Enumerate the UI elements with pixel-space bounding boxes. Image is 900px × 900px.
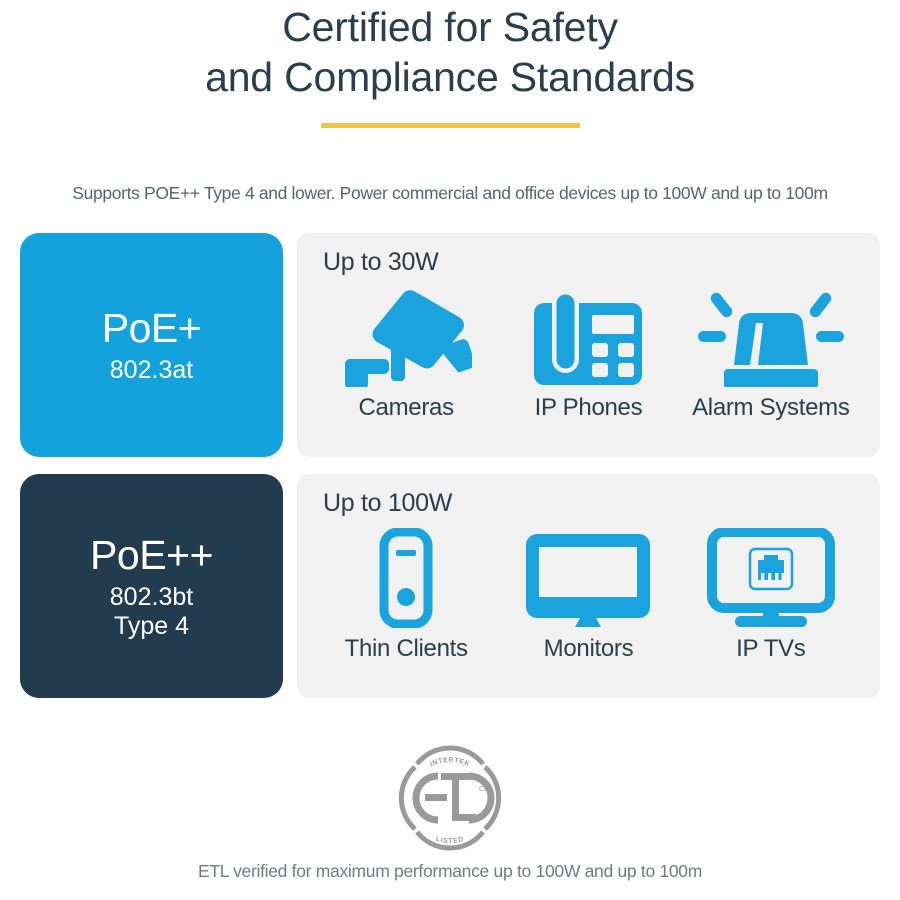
device-item-thin-clients: Thin Clients xyxy=(316,524,496,664)
device-item-monitors: Monitors xyxy=(498,524,678,664)
etl-badge-superscript: CM xyxy=(479,786,490,793)
page-header: Certified for Safety and Compliance Stan… xyxy=(0,0,900,128)
svg-text:INTERTEK: INTERTEK xyxy=(429,757,471,768)
page-title-line-1: Certified for Safety xyxy=(0,2,900,52)
device-label-alarm-systems: Alarm Systems xyxy=(692,393,849,423)
device-strip-100w: Thin Clients Monitors xyxy=(315,524,862,664)
etl-badge-top-text: INTERTEK xyxy=(429,757,471,768)
page-footer: INTERTEK LISTED CM ETL verified for maxi… xyxy=(0,742,900,882)
device-panel-30w: Up to 30W Cameras xyxy=(297,233,880,457)
tier-row-poe-plus-plus: PoE++ 802.3bt Type 4 Up to 100W xyxy=(20,474,880,698)
device-label-cameras: Cameras xyxy=(359,393,454,423)
device-item-cameras: Cameras xyxy=(316,283,496,423)
etl-badge-wrap: INTERTEK LISTED CM xyxy=(0,742,900,854)
panel-heading-100w: Up to 100W xyxy=(323,488,862,518)
security-camera-icon xyxy=(340,283,472,387)
etl-badge-bottom-text: LISTED xyxy=(435,836,465,845)
device-label-ip-phones: IP Phones xyxy=(535,393,643,423)
tier-card-poe-plus-plus: PoE++ 802.3bt Type 4 xyxy=(20,474,283,698)
ip-phone-icon xyxy=(532,283,644,387)
footer-note: ETL verified for maximum performance up … xyxy=(0,860,900,882)
poe-tier-grid: PoE+ 802.3at Up to 30W xyxy=(20,233,880,698)
tier-standard-line-2: Type 4 xyxy=(110,612,193,641)
title-accent-underline xyxy=(321,123,580,128)
tier-row-poe-plus: PoE+ 802.3at Up to 30W xyxy=(20,233,880,457)
device-strip-30w: Cameras xyxy=(315,283,862,423)
tier-standard: 802.3at xyxy=(110,356,193,385)
device-item-alarm-systems: Alarm Systems xyxy=(681,283,861,423)
device-item-ip-tvs: IP TVs xyxy=(681,524,861,664)
device-label-ip-tvs: IP TVs xyxy=(736,634,805,664)
ip-tv-icon xyxy=(707,524,835,628)
panel-heading-30w: Up to 30W xyxy=(323,247,862,277)
subtitle-text: Supports POE++ Type 4 and lower. Power c… xyxy=(0,182,900,204)
device-panel-100w: Up to 100W Thin Clients xyxy=(297,474,880,698)
tier-standard: 802.3bt Type 4 xyxy=(110,583,193,641)
thin-client-icon xyxy=(379,524,433,628)
tier-name: PoE++ xyxy=(90,532,213,578)
page-title-line-2: and Compliance Standards xyxy=(0,52,900,102)
alarm-siren-icon xyxy=(698,283,844,387)
tier-card-poe-plus: PoE+ 802.3at xyxy=(20,233,283,457)
etl-intertek-listed-badge-icon: INTERTEK LISTED CM xyxy=(391,742,509,854)
tier-standard-line-1: 802.3bt xyxy=(110,583,193,612)
tier-name: PoE+ xyxy=(102,305,201,351)
page-title: Certified for Safety and Compliance Stan… xyxy=(0,2,900,102)
device-label-monitors: Monitors xyxy=(544,634,634,664)
device-item-ip-phones: IP Phones xyxy=(498,283,678,423)
svg-text:LISTED: LISTED xyxy=(435,836,465,845)
device-label-thin-clients: Thin Clients xyxy=(345,634,468,664)
monitor-icon xyxy=(525,524,651,628)
